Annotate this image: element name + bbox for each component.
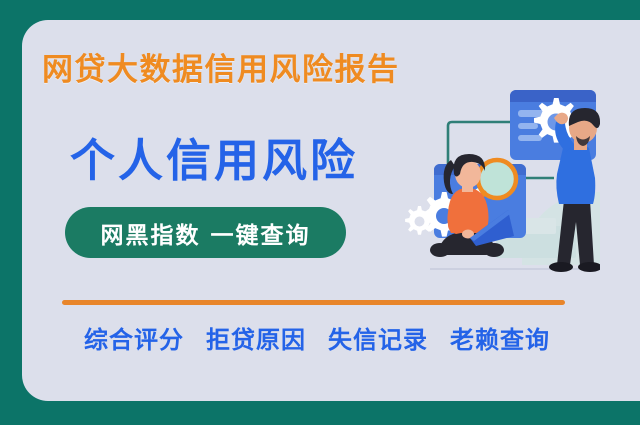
credit-risk-analysis-illustration <box>404 60 640 310</box>
banner-stage: 网贷大数据信用风险报告 个人信用风险 网黑指数 一键查询 综合评分 拒贷原因 失… <box>0 0 640 425</box>
gear-small-icon <box>405 206 434 235</box>
query-cta-button[interactable]: 网黑指数 一键查询 <box>65 207 346 258</box>
footer-link-record[interactable]: 失信记录 <box>328 320 428 355</box>
page-title: 网贷大数据信用风险报告 <box>42 44 400 89</box>
footer-link-row: 综合评分 拒贷原因 失信记录 老赖查询 <box>84 320 550 355</box>
footer-link-laolai[interactable]: 老赖查询 <box>450 320 550 355</box>
footer-link-score[interactable]: 综合评分 <box>84 320 184 355</box>
query-cta-label: 网黑指数 一键查询 <box>100 216 310 250</box>
subtitle: 个人信用风险 <box>70 124 358 189</box>
banner-card: 网贷大数据信用风险报告 个人信用风险 网黑指数 一键查询 综合评分 拒贷原因 失… <box>22 20 640 401</box>
footer-link-reason[interactable]: 拒贷原因 <box>206 320 306 355</box>
